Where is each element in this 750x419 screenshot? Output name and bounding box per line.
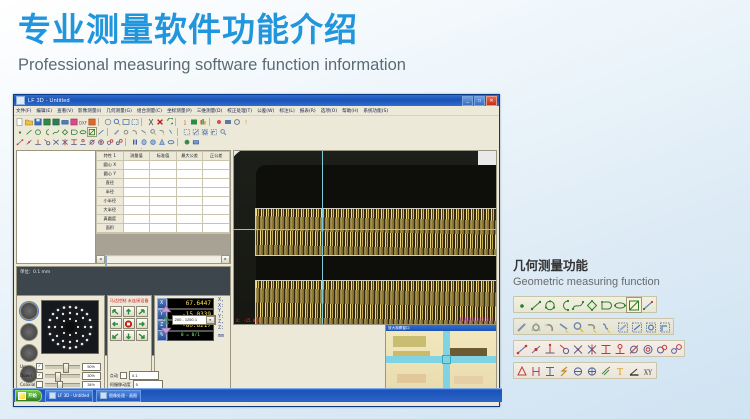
offset-circle-icon[interactable] <box>655 342 669 356</box>
taskbar-item-label: 图像处理 - 画图 <box>109 393 137 399</box>
cylinder-icon[interactable] <box>140 138 148 146</box>
toolbar-measure-tools <box>513 319 743 334</box>
move-left-button[interactable] <box>110 318 122 329</box>
menu-item-options[interactable]: 选项(O) <box>321 108 337 114</box>
plane-icon[interactable] <box>627 298 641 312</box>
box-diagonal-icon[interactable] <box>630 320 644 334</box>
pencil-icon[interactable] <box>113 128 121 136</box>
jog-field-row: 点动 0.1 <box>110 371 159 380</box>
slider-track-down[interactable] <box>45 374 80 378</box>
grid-icon[interactable] <box>190 118 198 126</box>
menu-item-coordinate-measure[interactable]: 坐标测量(P) <box>167 108 192 114</box>
calc-icon[interactable] <box>88 118 96 126</box>
page-header: 专业测量软件功能介绍 Professional measuring softwa… <box>18 8 488 76</box>
toolbar-app-geometry <box>16 127 497 136</box>
slider-track-coaxial[interactable] <box>45 383 80 387</box>
application-window: LF 3D - Untitled _ □ ✕ 文件(F) 编辑(E) 查看(V)… <box>13 94 500 407</box>
intersect-icon[interactable] <box>571 342 585 356</box>
toolbar-separator <box>177 128 181 136</box>
viewport-osd-left: X: -15.0381 <box>236 318 263 323</box>
row-label: 圆心 X <box>97 161 124 170</box>
pan-icon[interactable] <box>104 118 112 126</box>
two-point-line-icon[interactable] <box>16 138 24 146</box>
ellipse-icon[interactable] <box>79 128 87 136</box>
table-empty-area <box>96 233 230 255</box>
grid-select-icon[interactable] <box>183 128 191 136</box>
scroll-right-icon[interactable]: ▸ <box>221 255 230 264</box>
start-button[interactable]: 开始 <box>15 390 42 402</box>
menu-item-image-measure[interactable]: 影像测量(I) <box>78 108 101 114</box>
slider-checkbox-down[interactable]: ✓ <box>36 372 43 379</box>
viewport-osd-right: 影像测量 放大倍率 <box>460 317 494 323</box>
angle-icon[interactable] <box>627 364 641 378</box>
move-down-right-button[interactable] <box>136 330 148 341</box>
crosshair-horizontal <box>234 229 496 230</box>
cone-icon[interactable] <box>158 138 166 146</box>
slider-knob-up[interactable] <box>63 363 69 373</box>
zoom-center-box <box>443 356 450 363</box>
zoom-in-icon[interactable] <box>113 118 121 126</box>
slider-checkbox-up[interactable]: ✓ <box>36 363 43 370</box>
column-header-nominal: 标准值 <box>150 152 177 161</box>
toolbar-separator <box>209 118 213 126</box>
point-icon[interactable] <box>515 298 529 312</box>
chart-icon[interactable] <box>199 118 207 126</box>
point-on-line-icon[interactable] <box>529 342 543 356</box>
zoom-preview-title: 放大观察窗口 <box>388 326 410 331</box>
column-header-feature: 特性 1 <box>97 152 124 161</box>
menu-item-edit[interactable]: 编辑(E) <box>36 108 52 114</box>
unit-label: 单位：0.1 mm <box>20 269 50 275</box>
slider-checkbox-coaxial[interactable] <box>36 381 43 388</box>
table-row: 半径 <box>97 188 230 197</box>
pencil-icon[interactable] <box>515 320 529 334</box>
concentricity-icon[interactable] <box>585 364 599 378</box>
taskbar-item-label: LF 3D - Untitled <box>58 393 89 398</box>
link-circle-icon[interactable] <box>115 138 123 146</box>
z-up-button[interactable] <box>158 304 174 313</box>
slider-label-up: Up <box>20 364 34 369</box>
arc-icon[interactable] <box>43 128 51 136</box>
intersect-icon[interactable] <box>52 138 60 146</box>
table-row: 直径 <box>97 179 230 188</box>
menu-item-help[interactable]: 帮助(H) <box>342 108 358 114</box>
toolbar-separator <box>177 138 181 146</box>
geo-title-en: Geometric measuring function <box>513 275 743 290</box>
vector-icon[interactable] <box>97 128 105 136</box>
windows-taskbar: 开始 LF 3D - Untitled 图像处理 - 画图 <box>13 388 502 402</box>
left-column: 特性 1 测量值 标准值 最大公差 正公差 圆心 X 圆心 Y 直径 半径 小半… <box>16 150 231 394</box>
two-point-line-icon[interactable] <box>515 342 529 356</box>
light-sliders: Up ✓ 50% Down ✓ 30% <box>20 362 101 389</box>
move-up-left-button[interactable] <box>110 306 122 317</box>
svg-text:T: T <box>617 368 623 378</box>
menu-item-file[interactable]: 文件(F) <box>16 108 31 114</box>
row-label: 大半径 <box>97 206 124 215</box>
slider-label-coaxial: Coaxial <box>20 382 34 387</box>
concentric-icon[interactable] <box>97 138 105 146</box>
vector-icon[interactable] <box>641 298 655 312</box>
table-row: 圆心 Y <box>97 170 230 179</box>
text-icon[interactable]: T <box>613 364 627 378</box>
close-button[interactable]: ✕ <box>486 96 497 106</box>
pick-line-icon[interactable] <box>557 320 571 334</box>
tangent-icon[interactable] <box>557 342 571 356</box>
move-down-button[interactable] <box>123 330 135 341</box>
z-down-button[interactable] <box>158 326 174 335</box>
zoom-crosshair-horizontal <box>386 356 496 363</box>
move-right-button[interactable] <box>136 318 148 329</box>
cross-intersect-icon[interactable] <box>61 138 69 146</box>
box-corner-icon[interactable] <box>210 128 218 136</box>
app-icon <box>49 392 56 399</box>
row-label: 小半径 <box>97 197 124 206</box>
menu-item-report[interactable]: 报表(R) <box>300 108 316 114</box>
magnifier-icon[interactable] <box>219 128 227 136</box>
shape-icon[interactable] <box>599 298 613 312</box>
menu-item-system[interactable]: 系统功能(S) <box>363 108 388 114</box>
zoom-block <box>397 374 426 383</box>
menu-item-tolerance[interactable]: 公差(W) <box>257 108 274 114</box>
shape-icon[interactable] <box>70 128 78 136</box>
magnifier-icon[interactable] <box>571 320 585 334</box>
grid-select-icon[interactable] <box>616 320 630 334</box>
settings-icon[interactable] <box>233 118 241 126</box>
row-label: 圆心 Y <box>97 170 124 179</box>
bottom-controls: Up ✓ 50% Down ✓ 30% <box>16 295 231 393</box>
light-preset-2[interactable] <box>20 323 38 341</box>
menu-item-geometry-measure[interactable]: 几何测量(G) <box>106 108 132 114</box>
table-row: 面积 <box>97 224 230 233</box>
tangent-icon[interactable] <box>43 138 51 146</box>
svg-text:?: ? <box>245 120 248 126</box>
menu-bar: 文件(F) 编辑(E) 查看(V) 影像测量(I) 几何测量(G) 组合测量(C… <box>14 106 499 116</box>
jog-value[interactable]: 0.1 <box>129 371 159 380</box>
table-horizontal-scrollbar[interactable]: ◂ ▸ <box>96 255 230 263</box>
app-icon <box>16 96 25 105</box>
specimen-image <box>233 150 478 325</box>
help-icon[interactable]: ? <box>242 118 250 126</box>
page-title-en: Professional measuring software function… <box>18 54 488 76</box>
pick-arc-icon[interactable] <box>585 320 599 334</box>
zoom-block <box>393 336 426 347</box>
feature-data-panel: 特性 1 测量值 标准值 最大公差 正公差 圆心 X 圆心 Y 直径 半径 小半… <box>16 150 231 264</box>
box-circle-icon[interactable] <box>644 320 658 334</box>
light-preset-1[interactable] <box>20 302 38 320</box>
minimize-button[interactable]: _ <box>462 96 473 106</box>
box-diagonal-icon[interactable] <box>192 128 200 136</box>
paint-icon <box>100 392 107 399</box>
flatness-icon[interactable] <box>543 364 557 378</box>
box-circle-icon[interactable] <box>201 128 209 136</box>
pick-curve-icon[interactable] <box>599 320 613 334</box>
jog-label: 点动 <box>110 373 118 379</box>
coordinate-status-unit: mm <box>214 333 228 339</box>
cut-icon[interactable] <box>147 118 155 126</box>
color-fill-icon[interactable] <box>183 138 191 146</box>
preview-icon[interactable] <box>70 118 78 126</box>
menu-item-calibration[interactable]: 校正处理(T) <box>227 108 252 114</box>
svg-text:XY: XY <box>644 369 653 376</box>
toolbar-separator <box>107 128 111 136</box>
pause-icon[interactable] <box>131 138 139 146</box>
cross-intersect-icon[interactable] <box>585 342 599 356</box>
image-viewport[interactable]: X: -15.0381 影像测量 放大倍率 <box>233 150 497 325</box>
hook-icon[interactable] <box>543 320 557 334</box>
polygon-icon[interactable] <box>585 298 599 312</box>
maximize-button[interactable]: □ <box>474 96 485 106</box>
symmetry-point-icon[interactable] <box>79 138 87 146</box>
slider-row-up: Up ✓ 50% <box>20 362 101 371</box>
circle-tangent-icon[interactable] <box>627 342 641 356</box>
table-row: 大半径 <box>97 206 230 215</box>
order-icon[interactable]: 1 <box>181 118 189 126</box>
motor-warning-label: 马达控制 未连接设备 <box>110 298 149 304</box>
box-corner-icon[interactable] <box>658 320 672 334</box>
stage-control-panel: 马达控制 未连接设备 <box>107 295 152 393</box>
symmetry-point-icon[interactable] <box>613 342 627 356</box>
line-icon[interactable] <box>529 298 543 312</box>
light-icon[interactable] <box>215 118 223 126</box>
work-area: 特性 1 测量值 标准值 最大公差 正公差 圆心 X 圆心 Y 直径 半径 小半… <box>14 149 499 395</box>
curve-icon[interactable] <box>571 298 585 312</box>
curve-icon[interactable] <box>52 128 60 136</box>
slider-track-up[interactable] <box>45 365 80 369</box>
offset-circle-icon[interactable] <box>106 138 114 146</box>
scroll-left-icon[interactable]: ◂ <box>96 255 105 264</box>
scroll-track[interactable] <box>105 257 221 263</box>
toolbar-separator <box>98 118 102 126</box>
link-circle-icon[interactable] <box>669 342 683 356</box>
svg-text:DXF: DXF <box>79 120 87 125</box>
column-header-maxtol: 最大公差 <box>176 152 203 161</box>
fit-window-icon[interactable] <box>122 118 130 126</box>
profile-icon[interactable] <box>557 364 571 378</box>
geo-title-cn: 几何测量功能 <box>513 258 743 274</box>
slider-label-down: Down <box>20 373 34 378</box>
report-icon[interactable] <box>52 118 60 126</box>
slide-root: 专业测量软件功能介绍 Professional measuring softwa… <box>0 0 750 419</box>
new-file-icon[interactable] <box>16 118 24 126</box>
window-titlebar[interactable]: LF 3D - Untitled _ □ ✕ <box>14 95 499 106</box>
table-row: 小半径 <box>97 197 230 206</box>
point-icon[interactable] <box>16 128 24 136</box>
row-label: 半径 <box>97 188 124 197</box>
slider-value-up: 50% <box>82 363 101 371</box>
torus-icon[interactable] <box>167 138 175 146</box>
polygon-icon[interactable] <box>61 128 69 136</box>
row-label: 直径 <box>97 179 124 188</box>
zoom-preview-window[interactable]: 放大观察窗口 <box>385 324 497 394</box>
chevron-down-icon[interactable]: ▾ <box>206 316 215 324</box>
ring-light-preview[interactable] <box>41 300 99 354</box>
window-buttons: _ □ ✕ <box>462 96 497 106</box>
save-icon[interactable] <box>34 118 42 126</box>
move-down-left-button[interactable] <box>110 330 122 341</box>
pick-curve-icon[interactable] <box>167 128 175 136</box>
crosshair-vertical <box>322 151 323 324</box>
ellipse-icon[interactable] <box>613 298 627 312</box>
light-preset-3[interactable] <box>20 344 38 362</box>
delete-icon[interactable] <box>156 118 164 126</box>
circle-tangent-icon[interactable] <box>88 138 96 146</box>
concentric-icon[interactable] <box>641 342 655 356</box>
perpendicular-icon[interactable] <box>543 342 557 356</box>
servo-label: 伺服移动度 <box>110 382 131 388</box>
dxf-icon[interactable]: DXF <box>79 118 87 126</box>
table-row: 圆心 X <box>97 161 230 170</box>
column-header-measured: 测量值 <box>123 152 150 161</box>
page-title-cn: 专业测量软件功能介绍 <box>18 8 488 52</box>
sphere-icon[interactable] <box>149 138 157 146</box>
toolbar-standard: DXF 1 ? <box>16 117 497 126</box>
midline-icon[interactable] <box>599 342 613 356</box>
zoom-block <box>454 376 483 385</box>
gold-pad-1 <box>256 209 497 255</box>
taskbar-item-paint[interactable]: 图像处理 - 画图 <box>96 390 141 402</box>
angularity-icon[interactable] <box>515 364 529 378</box>
table-header-row: 特性 1 测量值 标准值 最大公差 正公差 <box>97 152 230 161</box>
midline-icon[interactable] <box>70 138 78 146</box>
magnification-value: 200 - 1250.1 <box>175 316 206 324</box>
slider-value-down: 30% <box>82 372 101 380</box>
pick-line-icon[interactable] <box>140 128 148 136</box>
row-label: 面积 <box>97 224 124 233</box>
roundness-icon[interactable] <box>571 364 585 378</box>
taskbar-item-app[interactable]: LF 3D - Untitled <box>45 390 93 402</box>
stop-button[interactable] <box>123 318 135 329</box>
move-up-button[interactable] <box>123 306 135 317</box>
xy-icon[interactable]: XY <box>641 364 655 378</box>
toolbar-gdt-tools: T XY <box>513 363 743 378</box>
jog-checkbox[interactable] <box>120 372 127 379</box>
svg-text:1: 1 <box>183 120 186 126</box>
toolbar-app-construction <box>16 137 497 146</box>
measurement-table: 特性 1 测量值 标准值 最大公差 正公差 圆心 X 圆心 Y 直径 半径 小半… <box>96 151 230 263</box>
runout-icon[interactable] <box>599 364 613 378</box>
stage-direction-pad <box>110 306 149 341</box>
move-up-right-button[interactable] <box>136 306 148 317</box>
drawing-canvas[interactable] <box>17 151 96 263</box>
column-header-plustol: 正公差 <box>203 152 230 161</box>
pick-arc-icon[interactable] <box>158 128 166 136</box>
start-label: 开始 <box>28 393 37 399</box>
toolbar-separator <box>125 138 129 146</box>
menu-item-view[interactable]: 查看(V) <box>57 108 73 114</box>
magnifier-icon[interactable] <box>149 128 157 136</box>
point-on-line-icon[interactable] <box>25 138 33 146</box>
circle-icon[interactable] <box>34 128 42 136</box>
gear-icon[interactable] <box>529 320 543 334</box>
perpendicular-icon[interactable] <box>34 138 42 146</box>
table-row: 真圆度 <box>97 215 230 224</box>
toolbar-separator <box>175 118 179 126</box>
open-file-icon[interactable] <box>25 118 33 126</box>
specimen-inner-region <box>256 165 497 325</box>
layer-icon[interactable] <box>192 138 200 146</box>
menu-item-combine-measure[interactable]: 组合测量(C) <box>137 108 162 114</box>
geometric-function-panel: 几何测量功能 Geometric measuring function <box>513 258 743 378</box>
arc-icon[interactable] <box>557 298 571 312</box>
hook-icon[interactable] <box>131 128 139 136</box>
plane-icon[interactable] <box>88 128 96 136</box>
toolbar-construction-tools <box>513 341 743 356</box>
menu-item-annotation[interactable]: 标注(L) <box>279 108 294 114</box>
toolbar-separator <box>141 118 145 126</box>
axis-label-z: Z, Z: <box>214 319 228 331</box>
row-label: 真圆度 <box>97 215 124 224</box>
slider-row-down: Down ✓ 30% <box>20 371 101 380</box>
magnification-select[interactable]: 200 - 1250.1 ▾ <box>172 315 216 325</box>
print-icon[interactable] <box>61 118 69 126</box>
toolbar-geometry-primitives <box>513 297 743 312</box>
line-icon[interactable] <box>25 128 33 136</box>
illumination-panel: Up ✓ 50% Down ✓ 30% <box>16 295 105 393</box>
undo-icon[interactable] <box>165 118 173 126</box>
window-title: LF 3D - Untitled <box>28 98 70 104</box>
gear-icon[interactable] <box>122 128 130 136</box>
parallelism-icon[interactable] <box>529 364 543 378</box>
select-region-icon[interactable] <box>131 118 139 126</box>
camera-icon[interactable] <box>224 118 232 126</box>
windows-flag-icon <box>18 392 26 400</box>
circle-icon[interactable] <box>543 298 557 312</box>
excel-export-icon[interactable] <box>43 118 51 126</box>
menu-item-3d-measure[interactable]: 三维测量(D) <box>197 108 223 114</box>
